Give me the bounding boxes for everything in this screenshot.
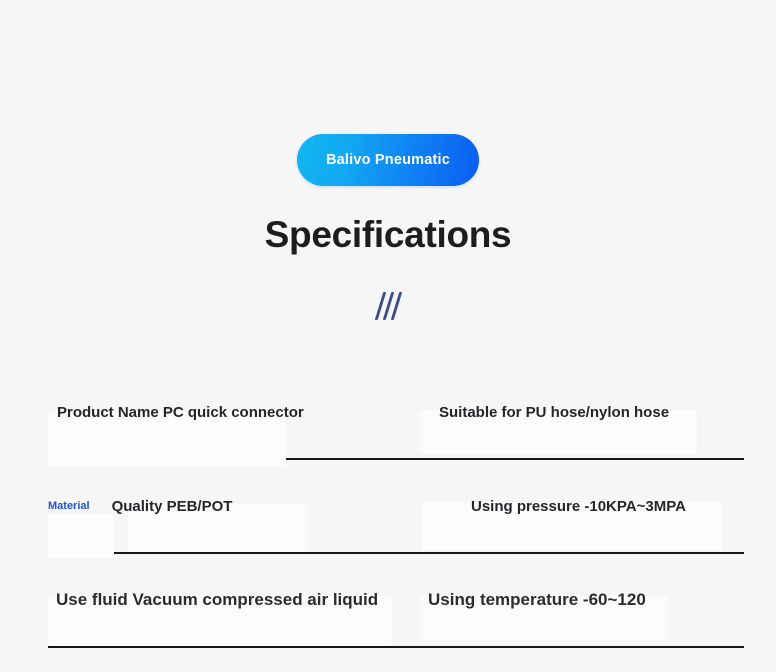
brand-badge-label: Balivo Pneumatic: [326, 152, 450, 168]
page-title: Specifications: [0, 214, 776, 256]
table-row: Product Name PC quick connector Suitable…: [48, 366, 744, 460]
spec-value-product-name: Product Name PC quick connector: [57, 404, 304, 421]
spec-cell-left: Product Name PC quick connector: [48, 404, 428, 421]
background-panel: [48, 514, 114, 558]
table-row: Use fluid Vacuum compressed air liquid U…: [48, 554, 744, 648]
spec-label-material: Material: [48, 500, 90, 512]
spec-cell-right: Using pressure -10KPA~3MPA: [428, 498, 744, 515]
spec-value-hose-compatibility: Suitable for PU hose/nylon hose: [439, 404, 669, 421]
brand-badge[interactable]: Balivo Pneumatic: [297, 134, 479, 186]
specifications-page: Balivo Pneumatic Specifications Product …: [0, 0, 776, 672]
table-row: Material Quality PEB/POT Using pressure …: [48, 460, 744, 554]
brand-badge-container: Balivo Pneumatic: [0, 134, 776, 186]
spec-value-using-temperature: Using temperature -60~120: [428, 590, 646, 610]
specifications-table: Product Name PC quick connector Suitable…: [48, 366, 744, 648]
spec-cell-right: Suitable for PU hose/nylon hose: [428, 404, 744, 421]
spec-cell-right: Using temperature -60~120: [428, 590, 744, 610]
spec-value-use-fluid: Use fluid Vacuum compressed air liquid: [56, 590, 378, 610]
slash-ornament: [0, 292, 776, 320]
spec-value-material: Quality PEB/POT: [112, 498, 233, 515]
spec-value-using-pressure: Using pressure -10KPA~3MPA: [471, 498, 686, 515]
spec-cell-left: Material Quality PEB/POT: [48, 498, 428, 515]
spec-cell-left: Use fluid Vacuum compressed air liquid: [48, 590, 428, 610]
